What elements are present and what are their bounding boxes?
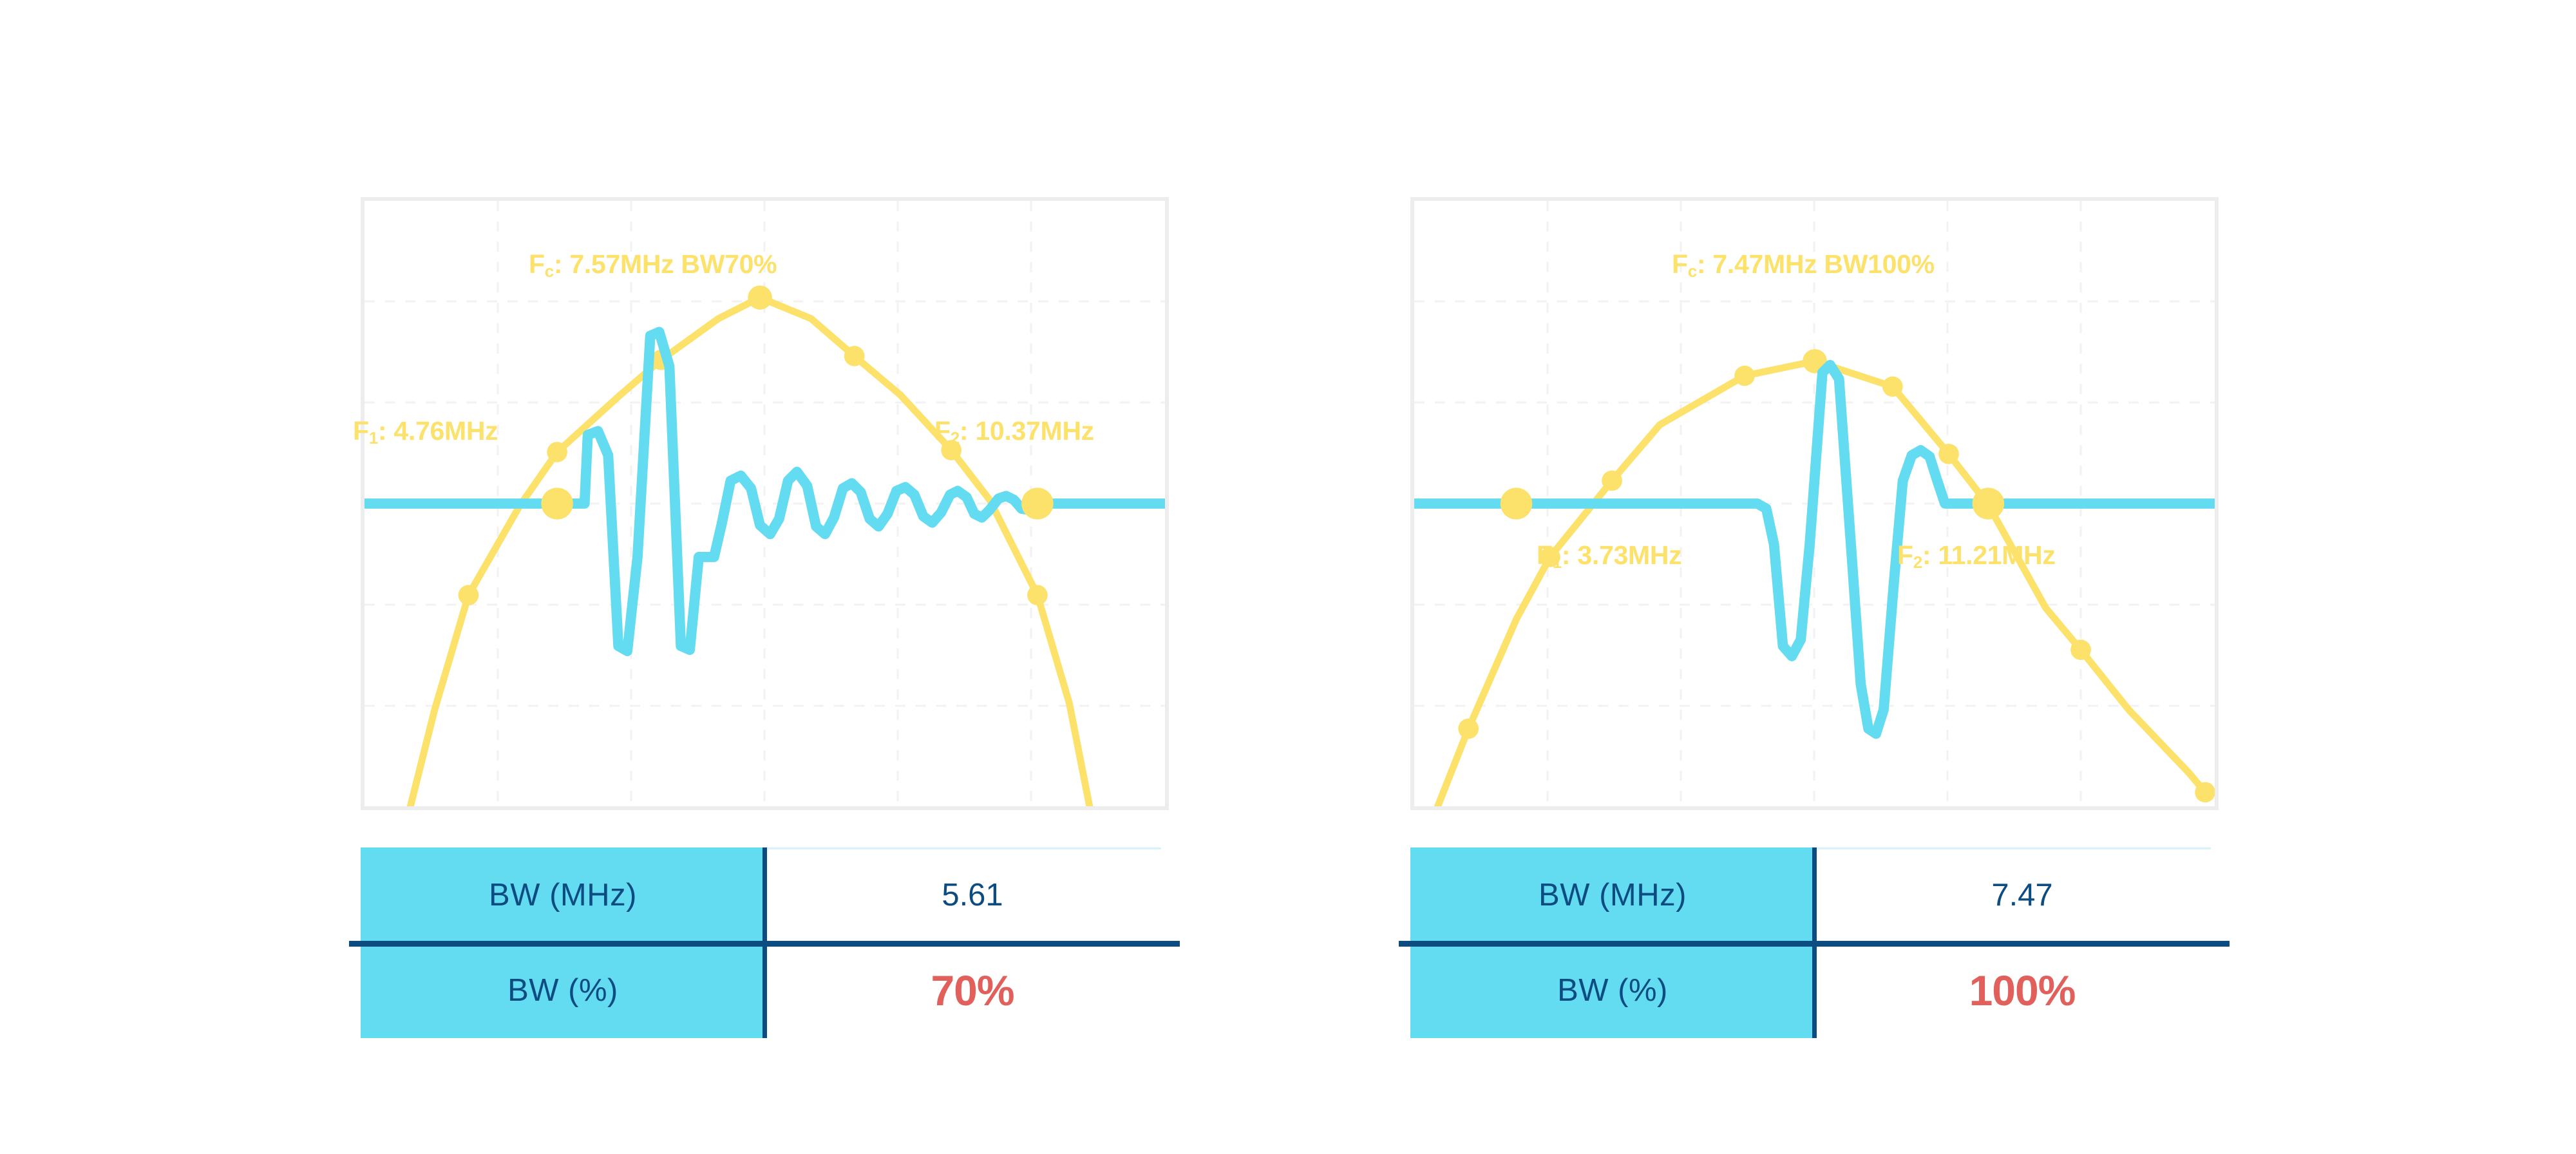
fc-value: : 7.57MHz BW70%	[554, 249, 777, 279]
table-value-text: 70%	[931, 966, 1014, 1015]
f1-subscript: 1	[369, 428, 378, 448]
figure-root: Fc: 7.57MHz BW70% F1: 4.76MHz F2: 10.37M…	[0, 0, 2576, 1154]
f2-subscript: 2	[1913, 553, 1922, 572]
chart-left: Fc: 7.57MHz BW70% F1: 4.76MHz F2: 10.37M…	[361, 197, 1169, 810]
spectrum-curve-left	[399, 298, 1098, 806]
f1-symbol: F	[353, 416, 369, 446]
table-horizontal-divider-right	[1399, 941, 2230, 947]
table-value-text: 100%	[1969, 966, 2076, 1015]
table-header-cell: BW (%)	[1410, 943, 1815, 1038]
f2-subscript: 2	[951, 428, 960, 448]
f1-symbol: F	[1537, 540, 1553, 570]
table-value-cell: 7.47	[1815, 847, 2230, 943]
table-header-label: BW (%)	[1557, 972, 1668, 1008]
fc-symbol: F	[1672, 249, 1688, 279]
fc-subscript: c	[1688, 261, 1697, 281]
f2-symbol: F	[934, 416, 951, 446]
chart-left-svg	[365, 201, 1165, 806]
spectrum-points-right	[1458, 349, 2215, 802]
label-lower-cutoff-left: F1: 4.76MHz	[353, 418, 498, 444]
label-center-frequency-right: Fc: 7.47MHz BW100%	[1672, 251, 1935, 278]
f2-symbol: F	[1897, 540, 1913, 570]
fc-subscript: c	[545, 261, 554, 281]
table-header-cell: BW (MHz)	[361, 847, 765, 943]
table-row: BW (%) 100%	[1410, 943, 2230, 1038]
table-row: BW (MHz) 7.47	[1410, 847, 2230, 943]
table-header-label: BW (MHz)	[489, 877, 637, 913]
fc-value: : 7.47MHz BW100%	[1697, 249, 1935, 279]
label-upper-cutoff-right: F2: 11.21MHz	[1897, 542, 2056, 569]
label-lower-cutoff-right: F1: 3.73MHz	[1537, 542, 1681, 569]
f1-value: : 4.76MHz	[378, 416, 498, 446]
table-value-text: 5.61	[942, 877, 1003, 913]
fc-symbol: F	[529, 249, 545, 279]
table-header-cell: BW (%)	[361, 943, 765, 1038]
f1-subscript: 1	[1553, 553, 1562, 572]
bandwidth-table-right: BW (MHz) 7.47 BW (%) 100%	[1410, 847, 2230, 1038]
table-value-text: 7.47	[1991, 877, 2052, 913]
label-center-frequency-left: Fc: 7.57MHz BW70%	[529, 251, 777, 278]
f2-value: : 11.21MHz	[1922, 540, 2056, 570]
table-header-label: BW (MHz)	[1539, 877, 1687, 913]
panel-right: Fc: 7.47MHz BW100% F1: 3.73MHz F2: 11.21…	[1050, 0, 2338, 1154]
chart-right-svg	[1414, 201, 2215, 806]
chart-right: Fc: 7.47MHz BW100% F1: 3.73MHz F2: 11.21…	[1410, 197, 2219, 810]
f1-value: : 3.73MHz	[1562, 540, 1681, 570]
table-header-cell: BW (MHz)	[1410, 847, 1815, 943]
table-header-label: BW (%)	[507, 972, 618, 1008]
table-value-cell: 100%	[1815, 943, 2230, 1038]
